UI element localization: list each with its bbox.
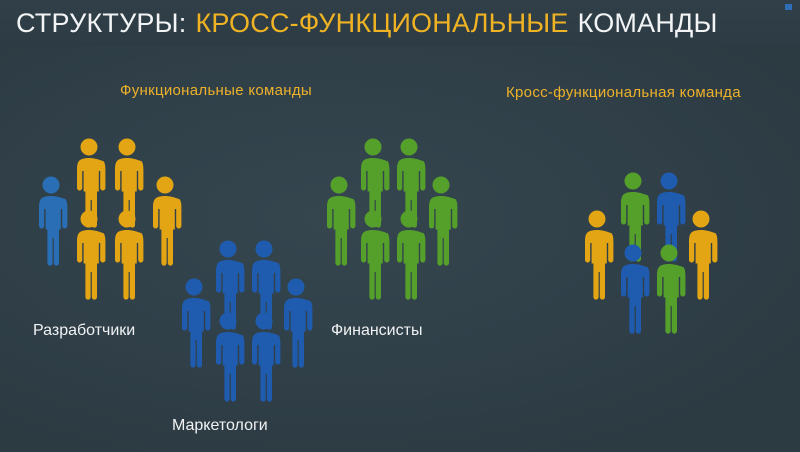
- person-figure: [247, 312, 281, 402]
- person-figure: [279, 278, 313, 368]
- heading-cross-functional-team: Кросс-функциональная команда: [506, 84, 741, 101]
- heading-functional-teams: Функциональные команды: [120, 82, 312, 99]
- corner-accent-marker: [785, 4, 792, 10]
- person-figure: [356, 210, 390, 300]
- people-group-developers: [30, 138, 190, 288]
- caption-finance: Финансисты: [331, 322, 422, 340]
- people-group-cross-functional: [578, 172, 718, 322]
- person-figure: [580, 210, 614, 300]
- title-part-structures: СТРУКТУРЫ:: [16, 8, 186, 39]
- person-figure: [684, 210, 718, 300]
- caption-marketers: Маркетологи: [172, 417, 268, 435]
- slide-canvas: СТРУКТУРЫ: КРОСС-ФУНКЦИОНАЛЬНЫЕ КОМАНДЫ …: [0, 0, 800, 452]
- title-part-cross-functional: КРОСС-ФУНКЦИОНАЛЬНЫЕ: [195, 8, 568, 39]
- person-figure: [148, 176, 182, 266]
- person-figure: [616, 244, 650, 334]
- person-figure: [322, 176, 356, 266]
- person-figure: [110, 210, 144, 300]
- title-part-teams: КОМАНДЫ: [578, 8, 718, 39]
- person-figure: [211, 312, 245, 402]
- person-figure: [652, 244, 686, 334]
- person-figure: [424, 176, 458, 266]
- slide-title-bar: СТРУКТУРЫ: КРОСС-ФУНКЦИОНАЛЬНЫЕ КОМАНДЫ: [0, 0, 800, 46]
- person-figure: [34, 176, 68, 266]
- caption-developers: Разработчики: [33, 322, 135, 340]
- people-group-finance: [320, 138, 460, 288]
- person-figure: [72, 210, 106, 300]
- people-group-marketers: [175, 240, 315, 390]
- person-figure: [177, 278, 211, 368]
- person-figure: [392, 210, 426, 300]
